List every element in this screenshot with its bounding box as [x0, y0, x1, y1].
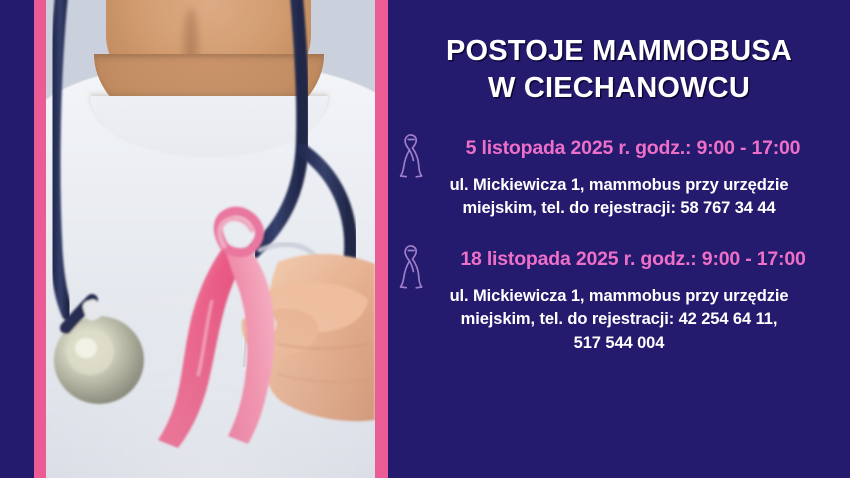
photo-frame: [46, 0, 375, 478]
event-address: ul. Mickiewicza 1, mammobus przy urzędzi…: [388, 174, 850, 221]
content-panel: POSTOJE MAMMOBUSA W CIECHANOWCU: [388, 0, 850, 478]
event-header: 5 listopada 2025 r. godz.: 9:00 - 17:00: [388, 136, 850, 166]
title-line-1: POSTOJE MAMMOBUSA: [446, 35, 792, 67]
photo-panel: [34, 0, 388, 478]
event-address: ul. Mickiewicza 1, mammobus przy urzędzi…: [388, 285, 850, 355]
event-address-line-2: miejskim, tel. do rejestracji: 58 767 34…: [462, 199, 775, 217]
photo-subject-illustration: [46, 0, 375, 478]
poster-root: POSTOJE MAMMOBUSA W CIECHANOWCU: [0, 0, 850, 478]
title-line-2: W CIECHANOWCU: [388, 70, 850, 107]
event-header: 18 listopada 2025 r. godz.: 9:00 - 17:00: [388, 247, 850, 277]
awareness-ribbon-icon: [397, 132, 427, 178]
awareness-ribbon-icon: [397, 243, 427, 289]
event-address-line-2: miejskim, tel. do rejestracji: 42 254 64…: [461, 310, 778, 328]
events-list: 5 listopada 2025 r. godz.: 9:00 - 17:00 …: [388, 136, 850, 377]
event-date: 5 listopada 2025 r. godz.: 9:00 - 17:00: [388, 136, 850, 160]
page-title: POSTOJE MAMMOBUSA W CIECHANOWCU: [388, 33, 850, 107]
event-address-line-3: 517 544 004: [574, 334, 665, 352]
event-item: 5 listopada 2025 r. godz.: 9:00 - 17:00 …: [388, 136, 850, 221]
event-date: 18 listopada 2025 r. godz.: 9:00 - 17:00: [388, 247, 850, 271]
event-address-line-1: ul. Mickiewicza 1, mammobus przy urzędzi…: [450, 287, 789, 305]
event-item: 18 listopada 2025 r. godz.: 9:00 - 17:00…: [388, 247, 850, 355]
event-address-line-1: ul. Mickiewicza 1, mammobus przy urzędzi…: [450, 176, 789, 194]
